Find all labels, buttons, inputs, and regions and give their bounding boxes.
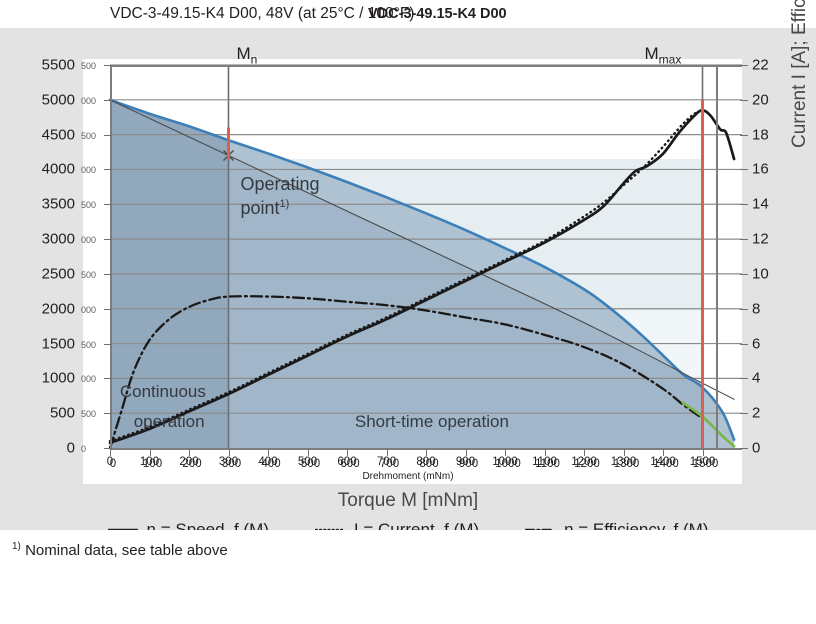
operating-point-footnote-ref: 1): [280, 198, 290, 210]
y-axis-right-tick-label: 8: [752, 300, 760, 317]
y-axis-right-tick-mark: [740, 344, 748, 345]
x-axis-tick-label-ghost: 900: [459, 458, 478, 470]
operating-point-label: Operating point1): [241, 173, 320, 221]
x-axis-tick-mark: [308, 449, 309, 456]
y-axis-left-tick-mark: [104, 204, 112, 205]
marker-mn-text: M: [237, 44, 251, 63]
y-axis-left-tick-ghost: 000: [81, 305, 96, 315]
x-axis-tick-mark: [150, 449, 151, 456]
operating-point-line1: Operating: [241, 173, 320, 197]
y-axis-left-tick-label: 500: [0, 405, 75, 422]
chart-title-overlay: VDC-3-49.15-K4 D00: [368, 6, 507, 22]
region-label-continuous-line1: Continuous: [120, 382, 206, 402]
x-axis-tick-mark: [347, 449, 348, 456]
x-axis-tick-mark: [426, 449, 427, 456]
y-axis-left-tick-label: 5500: [0, 57, 75, 74]
y-axis-right-tick-mark: [740, 448, 748, 449]
chart-page: VDC-3-49.15-K4 D00, 48V (at 25°C / 100°F…: [0, 0, 816, 624]
x-axis-tick-mark: [505, 449, 506, 456]
x-axis-tick-label-ghost: 300: [222, 458, 241, 470]
operating-point-line2-wrap: point1): [241, 197, 320, 221]
footnote-text: Nominal data, see table above: [21, 542, 228, 559]
y-axis-left-tick-label: 1500: [0, 335, 75, 352]
region-label-continuous-line2: operation: [134, 412, 205, 432]
x-axis-tick-mark: [387, 449, 388, 456]
y-axis-right-tick-mark: [740, 413, 748, 414]
x-axis-tick-mark: [268, 449, 269, 456]
y-axis-left-tick-label: 0: [0, 440, 75, 457]
x-axis-tick-label-ghost: 600: [340, 458, 359, 470]
y-axis-left-tick-ghost: 0: [81, 444, 86, 454]
y-axis-left-tick-ghost: 500: [81, 200, 96, 210]
x-axis-tick-mark: [466, 449, 467, 456]
y-axis-left-tick-label: 2500: [0, 265, 75, 282]
y-axis-left-tick-mark: [104, 135, 112, 136]
chart-panel: 0050050010000001500500200000025005003000…: [0, 28, 816, 530]
y-axis-left-tick-label: 5000: [0, 91, 75, 108]
x-axis-tick-label-ghost: 800: [419, 458, 438, 470]
y-axis-right-tick-label: 6: [752, 335, 760, 352]
axis-right: [716, 65, 718, 449]
footnote: 1) Nominal data, see table above: [12, 541, 228, 559]
y-axis-right-tick-label: 0: [752, 440, 760, 457]
x-axis-tick-mark: [703, 449, 704, 456]
y-axis-left-tick-label: 4000: [0, 161, 75, 178]
x-axis-tick-label-ghost: 1500: [693, 458, 719, 470]
x-axis-tick-label-ghost: 200: [182, 458, 201, 470]
y-axis-left-tick-label: 3000: [0, 231, 75, 248]
y-axis-left-tick-ghost: 500: [81, 340, 96, 350]
x-axis-title: Torque M [mNm]: [0, 490, 816, 512]
y-axis-left-tick-ghost: 000: [81, 374, 96, 384]
y-axis-right-tick-mark: [740, 378, 748, 379]
y-axis-right-tick-label: 2: [752, 405, 760, 422]
y-axis-right-tick-mark: [740, 135, 748, 136]
x-axis-tick-label-ghost: 0: [110, 458, 116, 470]
y-axis-right-tick-mark: [740, 239, 748, 240]
y-axis-left-tick-ghost: 500: [81, 61, 96, 71]
y-axis-left-tick-ghost: 500: [81, 409, 96, 419]
y-axis-right-tick-mark: [740, 169, 748, 170]
y-axis-left-tick-label: 3500: [0, 196, 75, 213]
left-white-strip: [0, 0, 40, 28]
x-axis-tick-label-ghost: 1100: [535, 458, 560, 470]
y-axis-left-tick-mark: [104, 378, 112, 379]
y-axis-left-tick-ghost: 500: [81, 131, 96, 141]
y-axis-left-tick-ghost: 000: [81, 96, 96, 106]
marker-mmax-text: M: [645, 44, 659, 63]
x-axis-tick-mark: [584, 449, 585, 456]
y-axis-left-tick-label: 2000: [0, 300, 75, 317]
y-axis-left-tick-label: 1000: [0, 370, 75, 387]
y-axis-right-tick-mark: [740, 65, 748, 66]
y-axis-right-tick-label: 4: [752, 370, 760, 387]
y-axis-right-tick-label: 10: [752, 265, 769, 282]
marker-mmax-sub: max: [659, 52, 682, 66]
y-axis-right-tick-label: 16: [752, 161, 769, 178]
y-axis-right-title-text: Current I [A]; Efficiency η x10 [%]: [789, 0, 810, 148]
marker-label-mmax: Mmax: [645, 44, 682, 66]
y-axis-right-tick-mark: [740, 309, 748, 310]
y-axis-left-tick-mark: [104, 309, 112, 310]
y-axis-right-tick-label: 12: [752, 231, 769, 248]
x-axis-tick-mark: [229, 449, 230, 456]
x-axis-tick-label-ghost: 1400: [653, 458, 679, 470]
y-axis-right-tick-label: 14: [752, 196, 769, 213]
x-axis-tick-label-ghost: 1000: [495, 458, 521, 470]
y-axis-right-tick-label: 20: [752, 91, 769, 108]
y-axis-left-tick-mark: [104, 274, 112, 275]
x-axis-tick-label-ghost: 500: [301, 458, 320, 470]
marker-label-mn: Mn: [237, 44, 258, 66]
x-axis-tick-mark: [663, 449, 664, 456]
y-axis-right-tick-mark: [740, 204, 748, 205]
y-axis-right-title: Current I [A]; Efficiency η x10 [%]: [789, 0, 811, 148]
y-axis-left-tick-mark: [104, 413, 112, 414]
axis-left: [110, 65, 112, 449]
y-axis-left-tick-mark: [104, 169, 112, 170]
x-axis-tick-label-ghost: 1300: [614, 458, 640, 470]
operating-point-line2: point: [241, 198, 280, 218]
x-axis-tick-mark: [545, 449, 546, 456]
y-axis-left-tick-ghost: 500: [81, 270, 96, 280]
x-axis-tick-mark: [110, 449, 111, 456]
x-axis-tick-mark: [624, 449, 625, 456]
y-axis-left-tick-label: 4500: [0, 126, 75, 143]
y-axis-left-tick-mark: [104, 344, 112, 345]
x-axis-tick-label-ghost: 1200: [574, 458, 600, 470]
y-axis-left-tick-ghost: 000: [81, 165, 96, 175]
y-axis-left-tick-mark: [104, 65, 112, 66]
y-axis-right-tick-label: 18: [752, 126, 769, 143]
x-axis-tick-label-ghost: 400: [261, 458, 280, 470]
y-axis-left-tick-mark: [104, 100, 112, 101]
x-axis-subtitle: Drehmoment (mNm): [0, 471, 816, 482]
x-axis-tick-mark: [189, 449, 190, 456]
y-axis-right-tick-mark: [740, 274, 748, 275]
y-axis-right-tick-label: 22: [752, 57, 769, 74]
x-axis-tick-label-ghost: 100: [143, 458, 162, 470]
x-axis-tick-label-ghost: 700: [380, 458, 399, 470]
y-axis-left-tick-ghost: 000: [81, 235, 96, 245]
y-axis-left-tick-mark: [104, 239, 112, 240]
footnote-marker: 1): [12, 541, 21, 552]
marker-mn-sub: n: [251, 52, 258, 66]
region-label-shorttime: Short-time operation: [355, 412, 509, 432]
y-axis-right-tick-mark: [740, 100, 748, 101]
